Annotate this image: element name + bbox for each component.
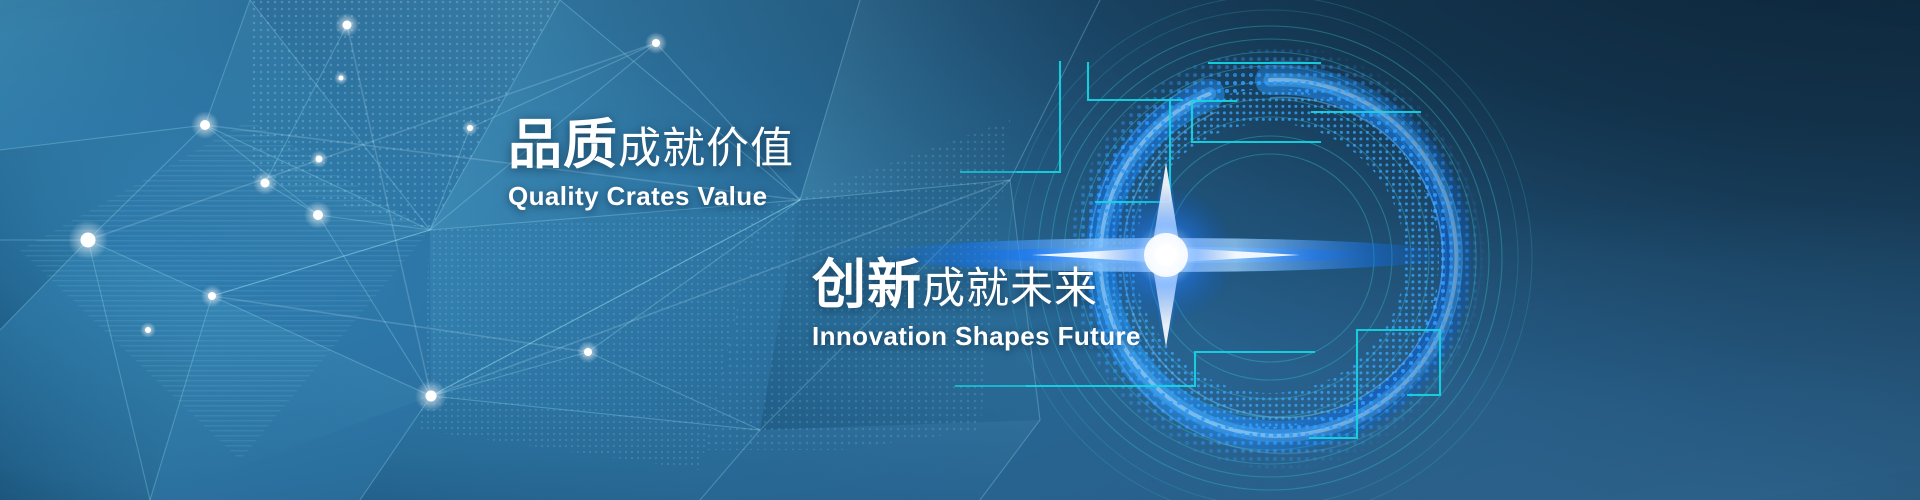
slogan-innovation-subtitle: Innovation Shapes Future — [812, 321, 1141, 352]
hero-banner: 品质成就价值 Quality Crates Value 创新成就未来 Innov… — [0, 0, 1920, 500]
slogan-innovation-headline-strong: 创新 — [812, 255, 922, 315]
slogan-quality-headline-rest: 成就价值 — [618, 125, 794, 173]
slogan-innovation: 创新成就未来 Innovation Shapes Future — [812, 258, 1141, 352]
slogan-quality-subtitle: Quality Crates Value — [508, 181, 794, 212]
slogan-innovation-headline: 创新成就未来 — [812, 258, 1141, 312]
slogan-quality-headline: 品质成就价值 — [508, 118, 794, 172]
slogan-quality: 品质成就价值 Quality Crates Value — [508, 118, 794, 212]
background-vignette — [0, 0, 1920, 500]
slogan-innovation-headline-rest: 成就未来 — [922, 265, 1098, 313]
slogan-quality-headline-strong: 品质 — [508, 115, 618, 175]
